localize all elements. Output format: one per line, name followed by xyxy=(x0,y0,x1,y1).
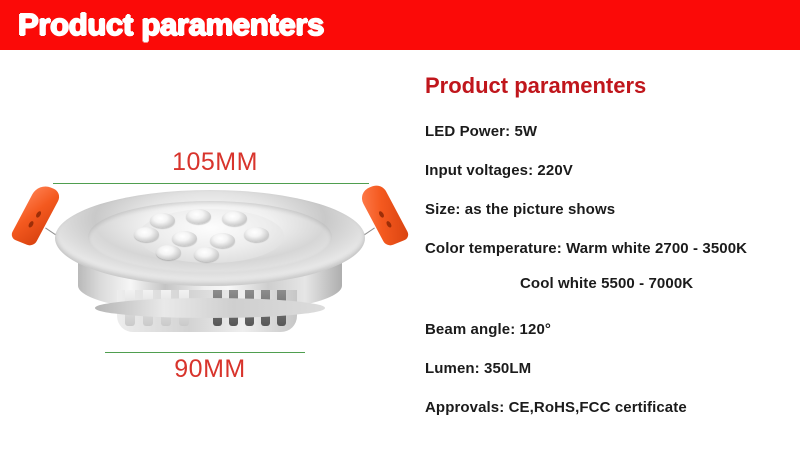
clip-hole-icon xyxy=(28,220,35,228)
led-lens-icon xyxy=(210,233,235,248)
spring-clip-right-icon xyxy=(357,183,410,248)
product-image-panel: 105MM xyxy=(0,50,410,466)
page-header-banner: Product paramenters xyxy=(0,0,800,50)
spec-item-size: Size: as the picture shows xyxy=(425,201,615,218)
clip-hole-icon xyxy=(385,220,392,228)
spec-item-approvals: Approvals: CE,RoHS,FCC certificate xyxy=(425,399,687,416)
bezel-ring xyxy=(55,190,365,286)
spec-item-lumen: Lumen: 350LM xyxy=(425,360,531,377)
led-lens-icon xyxy=(186,209,211,224)
clip-hole-icon xyxy=(378,211,385,219)
spec-item-input-voltages: Input voltages: 220V xyxy=(425,162,573,179)
led-downlight-illustration xyxy=(55,190,365,355)
dimension-label-depth: 90MM xyxy=(145,355,275,384)
spec-item-color-temperature: Color temperature: Warm white 2700 - 350… xyxy=(425,240,747,257)
dimension-line-depth xyxy=(105,352,305,353)
spec-item-led-power: LED Power: 5W xyxy=(425,123,537,140)
led-lens-icon xyxy=(150,213,175,228)
led-lens-icon xyxy=(134,227,159,242)
led-lens-icon xyxy=(156,245,181,260)
led-lens-icon xyxy=(194,247,219,262)
page-title: Product paramenters xyxy=(18,5,324,45)
dimension-label-width: 105MM xyxy=(150,148,280,177)
clip-hole-icon xyxy=(35,211,42,219)
dimension-line-width xyxy=(53,183,369,184)
spec-item-beam-angle: Beam angle: 120° xyxy=(425,321,551,338)
reflector-face xyxy=(88,201,332,273)
housing-bottom-edge xyxy=(95,298,325,318)
spec-item-color-temperature-cool: Cool white 5500 - 7000K xyxy=(520,275,693,292)
specifications-panel: Product paramenters LED Power: 5W Input … xyxy=(410,50,800,466)
led-lens-icon xyxy=(222,211,247,226)
led-lens-icon xyxy=(172,231,197,246)
specifications-heading: Product paramenters xyxy=(425,73,646,99)
led-lens-icon xyxy=(244,227,269,242)
